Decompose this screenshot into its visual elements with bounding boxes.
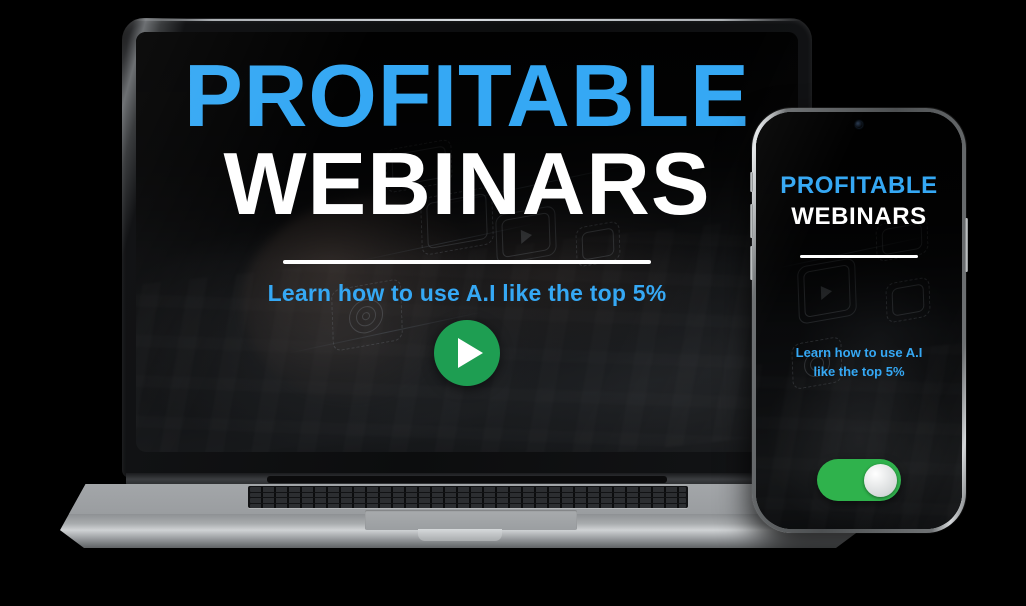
laptop-keyboard[interactable] bbox=[248, 486, 688, 508]
volume-up-button[interactable] bbox=[750, 204, 753, 238]
phone-glass-gloss bbox=[756, 112, 962, 529]
laptop-trackpad[interactable] bbox=[365, 510, 577, 530]
laptop-lid: PROFITABLE WEBINARS Learn how to use A.I… bbox=[122, 18, 812, 478]
promo-mockup-scene: PROFITABLE WEBINARS Learn how to use A.I… bbox=[0, 0, 1026, 606]
phone-mockup: PROFITABLE WEBINARS Learn how to use A.I… bbox=[752, 108, 966, 533]
laptop-screen[interactable]: PROFITABLE WEBINARS Learn how to use A.I… bbox=[136, 32, 798, 452]
screen-glass-gloss bbox=[136, 32, 798, 452]
laptop-base bbox=[60, 484, 860, 548]
laptop-lip-notch bbox=[418, 529, 502, 541]
lid-highlight bbox=[132, 19, 802, 21]
action-button[interactable] bbox=[750, 172, 753, 192]
hinge-notch bbox=[267, 476, 667, 483]
volume-down-button[interactable] bbox=[750, 246, 753, 280]
phone-screen[interactable]: PROFITABLE WEBINARS Learn how to use A.I… bbox=[756, 112, 962, 529]
power-button[interactable] bbox=[965, 218, 968, 272]
laptop-mockup: PROFITABLE WEBINARS Learn how to use A.I… bbox=[60, 18, 860, 548]
